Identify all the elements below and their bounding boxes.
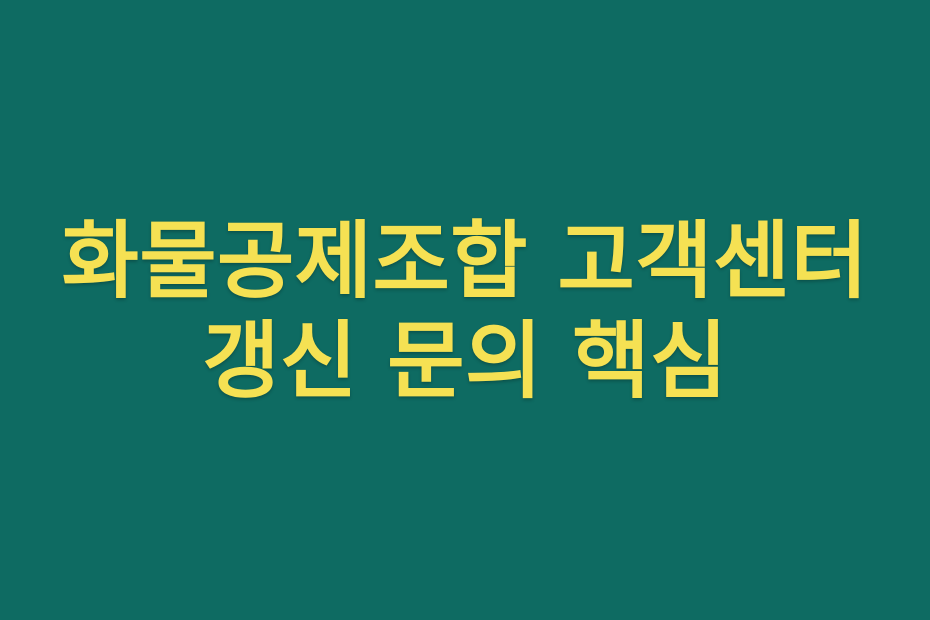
title-card: 화물공제조합 고객센터 갱신 문의 핵심 (0, 0, 930, 620)
headline-line-1: 화물공제조합 고객센터 (0, 214, 930, 308)
headline-block: 화물공제조합 고객센터 갱신 문의 핵심 (0, 0, 930, 408)
headline-line-2: 갱신 문의 핵심 (0, 314, 930, 408)
